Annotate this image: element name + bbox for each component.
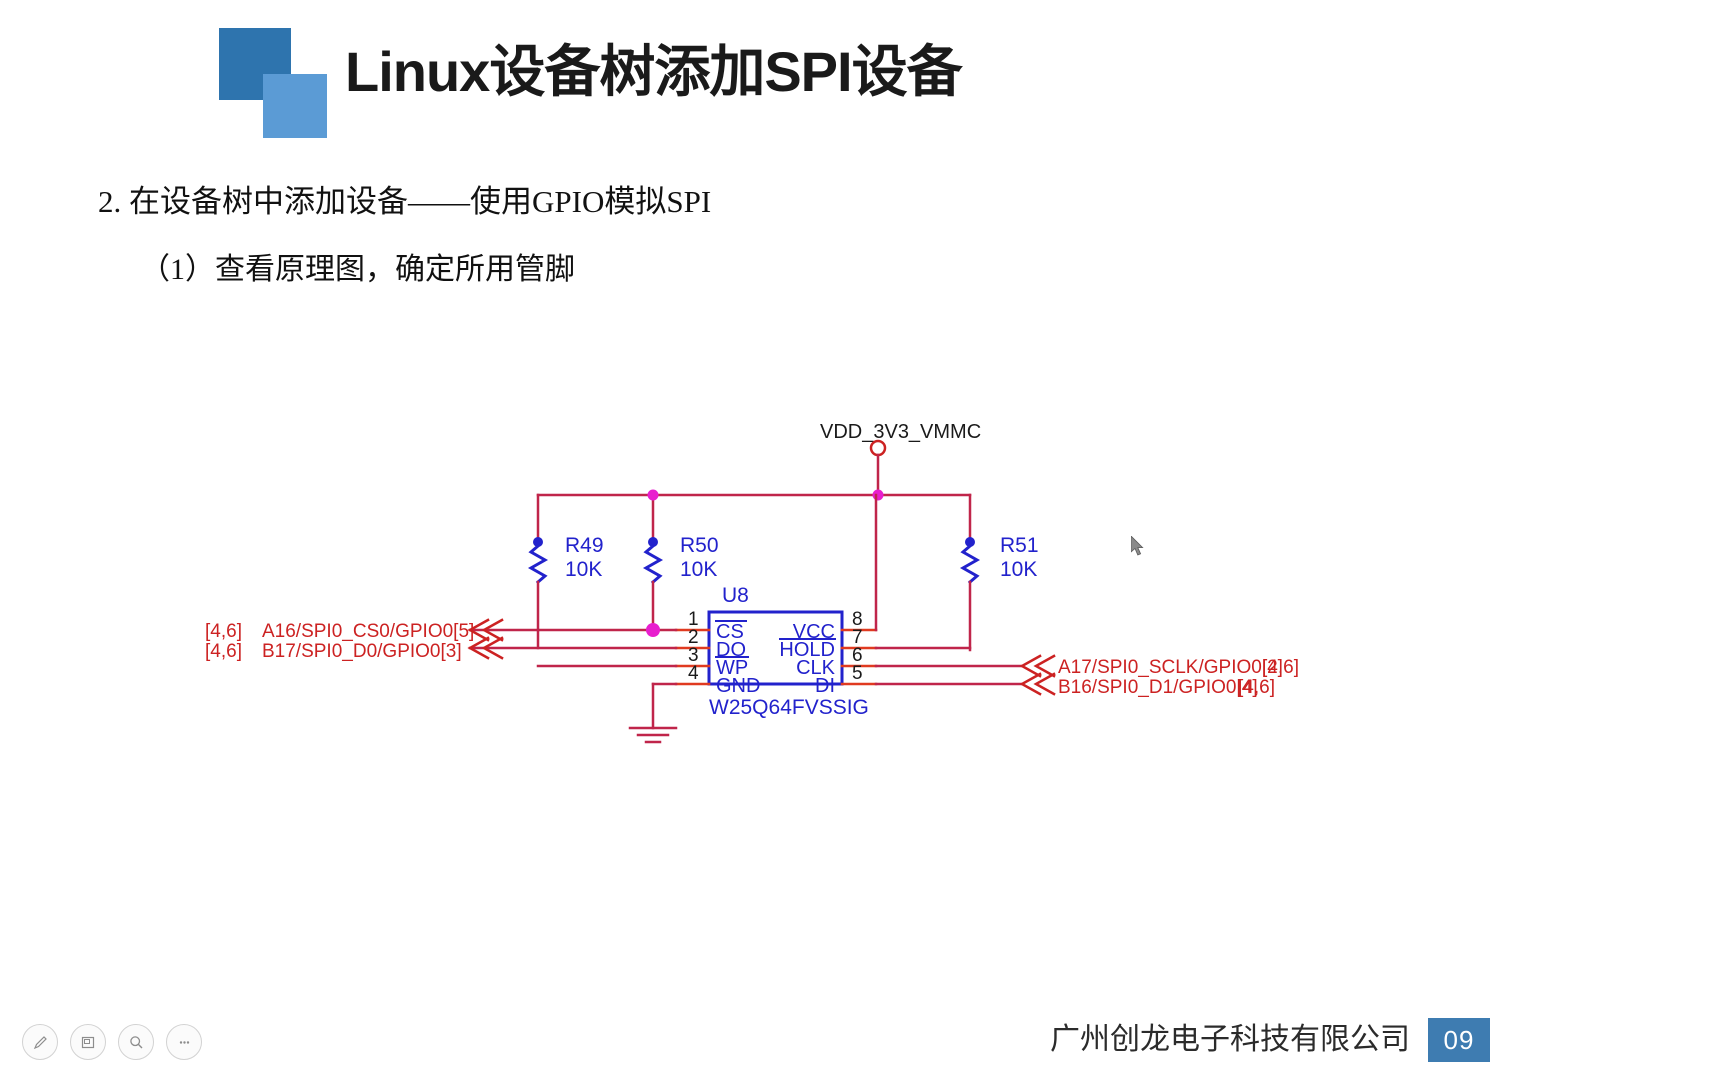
mouse-cursor-icon bbox=[1131, 536, 1147, 558]
pen-icon bbox=[32, 1034, 49, 1051]
net-label: A17/SPI0_SCLK/GPIO0[2] bbox=[1058, 657, 1283, 678]
junction-dot bbox=[646, 623, 660, 637]
junction-dot bbox=[648, 490, 659, 501]
power-net-label: VDD_3V3_VMMC bbox=[820, 421, 981, 443]
schematic-diagram: VDD_3V3_VMMC R49 10K R50 10K bbox=[0, 380, 1728, 800]
magnifier-icon bbox=[128, 1034, 145, 1051]
pin-name: DI bbox=[815, 675, 835, 697]
page-number-badge: 09 bbox=[1428, 1018, 1490, 1062]
annotate-pen-button[interactable] bbox=[22, 1024, 58, 1060]
net-connector-icon bbox=[1022, 656, 1054, 694]
logo bbox=[219, 28, 334, 138]
net-label: B17/SPI0_D0/GPIO0[3] bbox=[262, 641, 462, 662]
net-sheet-ref: [4,6] bbox=[1262, 657, 1299, 678]
resistor-symbol-r49 bbox=[531, 546, 545, 582]
resistor-value: 10K bbox=[565, 558, 602, 581]
net-label: B16/SPI0_D1/GPIO0[4] bbox=[1058, 677, 1258, 698]
net-sheet-ref: [4,6] bbox=[205, 641, 242, 662]
body-line-2: （1）查看原理图，确定所用管脚 bbox=[140, 244, 575, 288]
resistor-value: 10K bbox=[680, 558, 717, 581]
page-title: Linux设备树添加SPI设备 bbox=[345, 40, 962, 104]
ground-symbol bbox=[630, 728, 676, 742]
footer-company: 广州创龙电子科技有限公司 bbox=[1050, 1014, 1410, 1058]
body-line-1: 2. 在设备树中添加设备——使用GPIO模拟SPI bbox=[98, 176, 711, 221]
ellipsis-icon bbox=[176, 1034, 193, 1051]
pin-number: 4 bbox=[688, 663, 699, 684]
ic-designator: U8 bbox=[722, 584, 749, 607]
logo-square-light bbox=[263, 74, 327, 138]
resistor-value: 10K bbox=[1000, 558, 1037, 581]
more-options-button[interactable] bbox=[166, 1024, 202, 1060]
window-icon bbox=[80, 1034, 97, 1051]
slide-root: Linux设备树添加SPI设备 2. 在设备树中添加设备——使用GPIO模拟SP… bbox=[0, 0, 1728, 1080]
net-sheet-ref: [4,6] bbox=[1238, 677, 1275, 698]
view-mode-button[interactable] bbox=[70, 1024, 106, 1060]
bottom-toolbar bbox=[22, 1024, 202, 1060]
net-sheet-ref: [4,6] bbox=[205, 621, 242, 642]
resistor-designator: R50 bbox=[680, 534, 719, 557]
net-label: A16/SPI0_CS0/GPIO0[5] bbox=[262, 621, 474, 642]
resistor-designator: R51 bbox=[1000, 534, 1039, 557]
junction-dot bbox=[873, 490, 884, 501]
pin-number: 5 bbox=[852, 663, 863, 684]
power-terminal-icon bbox=[871, 441, 885, 455]
net-connector-icon bbox=[470, 620, 502, 658]
resistor-symbol-r50 bbox=[646, 546, 660, 582]
zoom-button[interactable] bbox=[118, 1024, 154, 1060]
resistor-symbol-r51 bbox=[963, 546, 977, 582]
pin-name: GND bbox=[716, 675, 760, 697]
resistor-designator: R49 bbox=[565, 534, 604, 557]
ic-part-number: W25Q64FVSSIG bbox=[709, 696, 869, 719]
